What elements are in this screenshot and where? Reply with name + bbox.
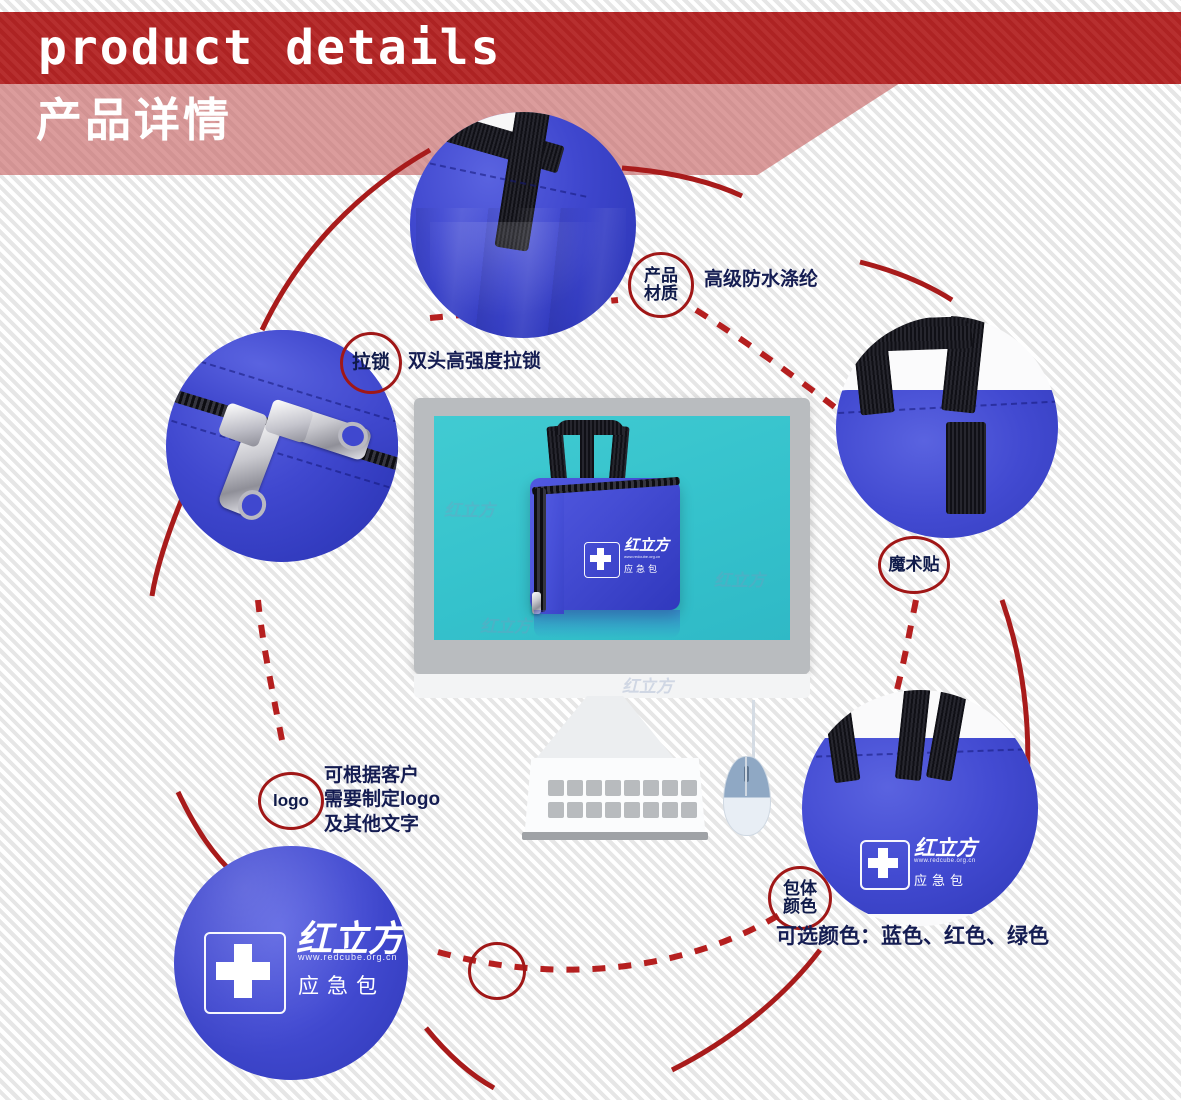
monitor-screen: 红立方 红立方 红立方 红立方 bbox=[434, 416, 790, 640]
keyboard-key bbox=[624, 780, 640, 796]
bag-brand-sub: 应急包 bbox=[914, 870, 968, 889]
bag-brand-url: www.redcube.org.cn bbox=[914, 858, 976, 864]
detail-photo-top-handle bbox=[410, 112, 636, 338]
logo-brand-url: www.redcube.org.cn bbox=[298, 952, 398, 962]
screen-watermark-1: 红立方 bbox=[444, 496, 495, 521]
badge-velcro[interactable]: 魔术贴 bbox=[878, 536, 950, 594]
arc-upper-right bbox=[860, 262, 952, 300]
product-details-page: product details 产品详情 bbox=[0, 0, 1181, 1100]
keyboard-key bbox=[548, 802, 564, 818]
keyboard-key bbox=[586, 802, 602, 818]
keyboard-key bbox=[662, 780, 678, 796]
callout-zipper-desc: 双头高强度拉锁 bbox=[408, 350, 541, 374]
callout-logo-line1: 可根据客户 bbox=[324, 764, 440, 788]
callout-logo-line3: 及其他文字 bbox=[324, 813, 440, 837]
detail-photo-logo: 红立方 www.redcube.org.cn 应急包 bbox=[174, 846, 408, 1080]
badge-velcro-label: 魔术贴 bbox=[889, 556, 940, 574]
mouse-cord bbox=[752, 700, 755, 762]
keyboard-key bbox=[605, 802, 621, 818]
keyboard-key bbox=[681, 780, 697, 796]
monitor-stand-neck bbox=[530, 696, 680, 766]
keyboard-key bbox=[643, 780, 659, 796]
arc-bottom-left bbox=[426, 1028, 494, 1088]
monitor-chin bbox=[414, 674, 810, 698]
screen-watermark-3: 红立方 bbox=[480, 612, 531, 637]
badge-body-color[interactable]: 包体 颜色 bbox=[768, 866, 832, 930]
screen-bag-brand-url: www.redcube.org.cn bbox=[624, 554, 660, 559]
keyboard-key bbox=[548, 780, 564, 796]
badge-body-color-line1: 包体 bbox=[783, 880, 817, 898]
keyboard-key bbox=[681, 802, 697, 818]
callout-body-color-desc: 可选颜色：蓝色、红色、绿色 bbox=[776, 924, 1049, 951]
keyboard-key bbox=[643, 802, 659, 818]
keyboard-key bbox=[605, 780, 621, 796]
callout-material-desc: 高级防水涤纶 bbox=[704, 268, 818, 292]
detail-photo-body-color: 红立方 www.redcube.org.cn 应急包 bbox=[802, 690, 1038, 926]
badge-logo-label: logo bbox=[273, 792, 309, 810]
mouse-button-divider bbox=[745, 756, 747, 796]
badge-material[interactable]: 产品 材质 bbox=[628, 252, 694, 318]
callout-logo-desc: 可根据客户 需要制定logo 及其他文字 bbox=[324, 764, 440, 837]
page-watermark-center: 红立方 bbox=[622, 672, 673, 697]
badge-zipper[interactable]: 拉锁 bbox=[340, 332, 402, 394]
page-title-cn: 产品详情 bbox=[36, 92, 232, 148]
screen-watermark-2: 红立方 bbox=[714, 566, 765, 591]
keyboard-key bbox=[662, 802, 678, 818]
arc-bottom-right bbox=[672, 950, 820, 1070]
keyboard-key bbox=[567, 780, 583, 796]
callout-logo-line2: 需要制定logo bbox=[324, 788, 440, 812]
badge-material-line1: 产品 bbox=[644, 267, 678, 285]
detail-photo-velcro bbox=[836, 316, 1058, 538]
page-title-en: product details bbox=[38, 18, 501, 78]
screen-bag-brand-sub: 应急包 bbox=[624, 562, 660, 575]
decorative-circle bbox=[468, 942, 526, 1000]
badge-zipper-label: 拉锁 bbox=[352, 353, 390, 373]
dashed-link-logo-to-zipper bbox=[258, 600, 282, 740]
logo-brand-sub: 应急包 bbox=[298, 970, 385, 1000]
screen-bag-brand-cn: 红立方 bbox=[624, 534, 669, 555]
keyboard-body bbox=[524, 758, 706, 840]
badge-material-line2: 材质 bbox=[644, 285, 678, 303]
badge-logo[interactable]: logo bbox=[258, 772, 324, 830]
keyboard-key bbox=[567, 802, 583, 818]
keyboard-key bbox=[624, 802, 640, 818]
keyboard-base bbox=[522, 832, 708, 840]
keyboard-key bbox=[586, 780, 602, 796]
badge-body-color-line2: 颜色 bbox=[783, 898, 817, 916]
